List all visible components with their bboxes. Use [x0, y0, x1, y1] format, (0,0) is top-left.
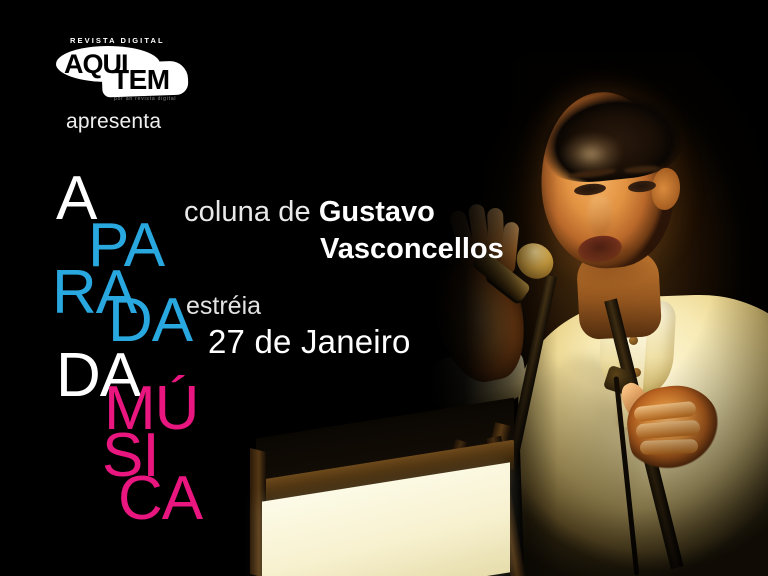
music-stand [248, 426, 578, 576]
title-row-ca: CA [118, 468, 202, 530]
title-row-ra: RA [52, 262, 136, 324]
title-row-da-white: DA [56, 345, 140, 407]
author-first-name: Gustavo [319, 196, 435, 228]
title-row-a: A [56, 168, 96, 230]
presents-label: apresenta [66, 110, 161, 134]
logo-tagline: por an revista digital [114, 96, 176, 102]
logo-kicker-text: REVISTA DIGITAL [70, 36, 165, 45]
title-row-mu: MÚ [104, 378, 198, 440]
premiere-label: estréia [184, 292, 544, 321]
logo-word-tem: TEM [112, 64, 170, 96]
title-row-si: SI [102, 425, 159, 487]
premiere-date: 27 de Janeiro [184, 323, 544, 361]
title-row-da-cyan: DA [108, 290, 192, 352]
publisher-logo[interactable]: REVISTA DIGITAL AQUI TEM por an revista … [56, 36, 188, 104]
poster-canvas: REVISTA DIGITAL AQUI TEM por an revista … [0, 0, 768, 576]
byline-line: coluna de Gustavo [184, 196, 544, 229]
author-last-name: Vasconcellos [184, 233, 544, 266]
byline-prefix: coluna de [184, 196, 319, 228]
credits-block: coluna de Gustavo Vasconcellos estréia 2… [184, 196, 544, 361]
photo-top-fade [428, 0, 768, 90]
title-row-pa: PA [88, 215, 164, 277]
